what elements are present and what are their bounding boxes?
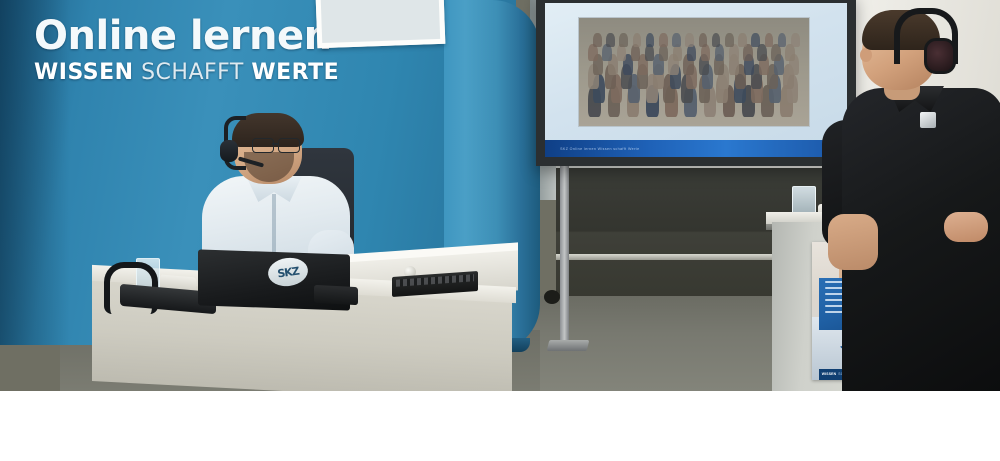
slide-group-photo bbox=[578, 17, 810, 127]
screen-cable bbox=[544, 290, 560, 304]
presentation-screen[interactable]: SKZ Online lernen Wissen schafft Werte bbox=[536, 0, 856, 166]
desk-device-black bbox=[314, 285, 358, 305]
banner-subline-word-3: WERTE bbox=[251, 60, 339, 85]
slide-footer-text: SKZ Online lernen Wissen schafft Werte bbox=[560, 147, 639, 151]
screen-stand-post bbox=[560, 160, 569, 348]
letterbox-bar bbox=[0, 391, 1000, 461]
banner-subline-word-1: WISSEN bbox=[34, 60, 134, 85]
screen-slide: SKZ Online lernen Wissen schafft Werte bbox=[545, 3, 847, 157]
webinar-video-frame: Online lernen WISSEN SCHAFFT WERTE bbox=[0, 0, 1000, 391]
standing-presenter bbox=[838, 0, 1000, 391]
glasses-icon bbox=[252, 138, 300, 151]
poster-claim-word-1: WISSEN bbox=[822, 372, 837, 376]
slide-footer-bar: SKZ Online lernen Wissen schafft Werte bbox=[545, 140, 847, 157]
laptop-sticker-label: SKZ bbox=[276, 264, 299, 280]
banner-subline: WISSEN SCHAFFT WERTE bbox=[34, 60, 434, 86]
slide-photo-people bbox=[579, 18, 809, 126]
headset-earcup bbox=[220, 140, 238, 162]
banner-subline-word-2: SCHAFFT bbox=[141, 60, 244, 85]
screen-stand-foot bbox=[547, 340, 590, 351]
wall-picture-frame bbox=[315, 0, 446, 48]
presenter-forearm bbox=[828, 214, 878, 270]
video-frame-container: Online lernen WISSEN SCHAFFT WERTE bbox=[0, 0, 1000, 461]
headphones-earcup bbox=[924, 38, 956, 74]
presenter-hand bbox=[944, 212, 988, 242]
presenter-ear bbox=[860, 48, 872, 62]
presenter-chest-logo bbox=[920, 112, 936, 128]
